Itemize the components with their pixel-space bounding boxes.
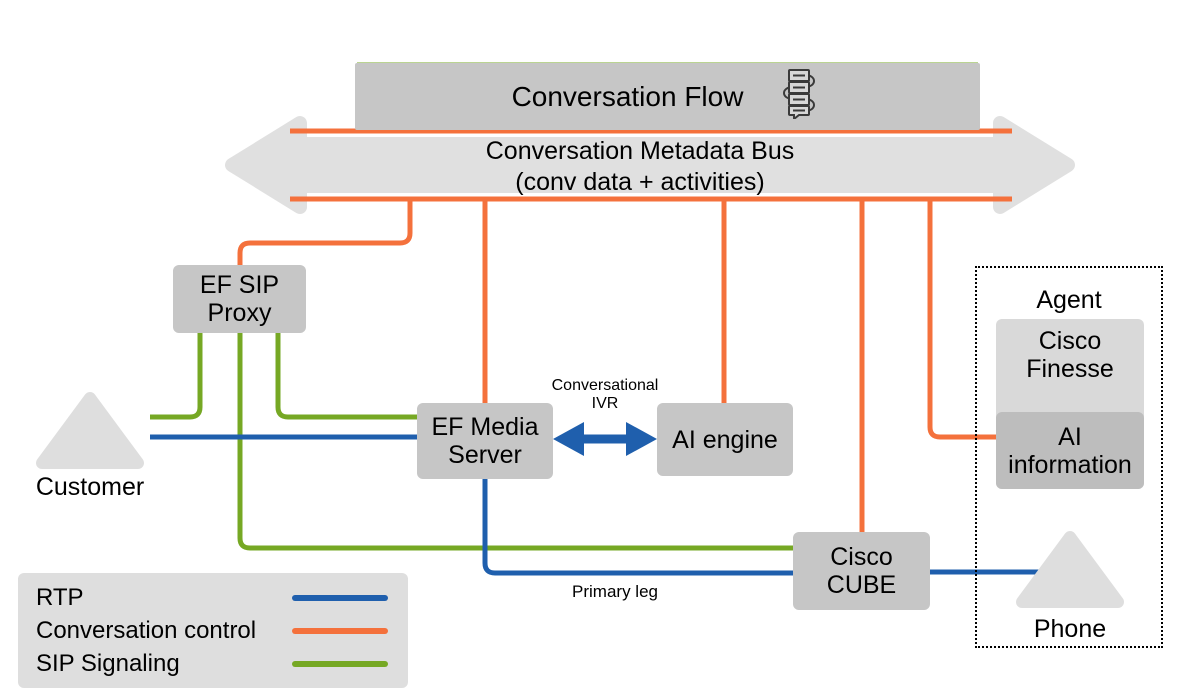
ef-sip-proxy-box: EF SIP Proxy: [173, 265, 306, 333]
legend-item-rtp: RTP: [18, 581, 408, 614]
cisco-cube-box: Cisco CUBE: [793, 532, 930, 610]
legend-swatch-conversation-control: [292, 628, 388, 634]
ai-engine-box: AI engine: [657, 403, 793, 476]
legend: RTP Conversation control SIP Signaling: [18, 573, 408, 688]
legend-item-sip-signaling: SIP Signaling: [18, 647, 408, 680]
conversational-ivr-arrow: [553, 422, 657, 456]
control-bus-to-ef-sip-proxy: [240, 199, 410, 265]
legend-label-rtp: RTP: [36, 584, 84, 612]
ef-media-server-box: EF Media Server: [417, 403, 553, 479]
ai-information-label: AI information: [1008, 423, 1132, 479]
legend-label-conversation-control: Conversation control: [36, 617, 256, 645]
cisco-cube-label: Cisco CUBE: [827, 543, 896, 599]
conversation-flow-icon: [777, 67, 823, 125]
ef-sip-proxy-label: EF SIP Proxy: [200, 271, 279, 327]
metadata-bus-label: Conversation Metadata Bus (conv data + a…: [260, 136, 1020, 197]
customer-label: Customer: [0, 473, 180, 502]
legend-item-conversation-control: Conversation control: [18, 614, 408, 647]
cisco-finesse-label: Cisco Finesse: [1026, 327, 1114, 383]
architecture-diagram: Conversation Flow Conversation Me: [0, 0, 1200, 700]
legend-swatch-rtp: [292, 595, 388, 601]
sip-customer-to-ef-sip-proxy: [150, 333, 200, 417]
legend-swatch-sip-signaling: [292, 661, 388, 667]
rtp-ef-media-server-to-cisco-cube: [485, 479, 793, 573]
agent-zone-label: Agent: [975, 286, 1163, 315]
sip-ef-sip-proxy-to-ef-media-server: [278, 333, 417, 417]
conversation-flow-box: Conversation Flow: [355, 63, 980, 130]
legend-label-sip-signaling: SIP Signaling: [36, 650, 180, 678]
conversational-ivr-label: Conversational IVR: [525, 377, 685, 414]
ef-media-server-label: EF Media Server: [432, 413, 539, 469]
primary-leg-label: Primary leg: [505, 582, 725, 602]
ai-information-panel: AI information: [996, 412, 1144, 489]
conversation-flow-label: Conversation Flow: [512, 81, 744, 112]
customer-triangle: [42, 398, 138, 463]
ai-engine-label: AI engine: [672, 426, 778, 454]
